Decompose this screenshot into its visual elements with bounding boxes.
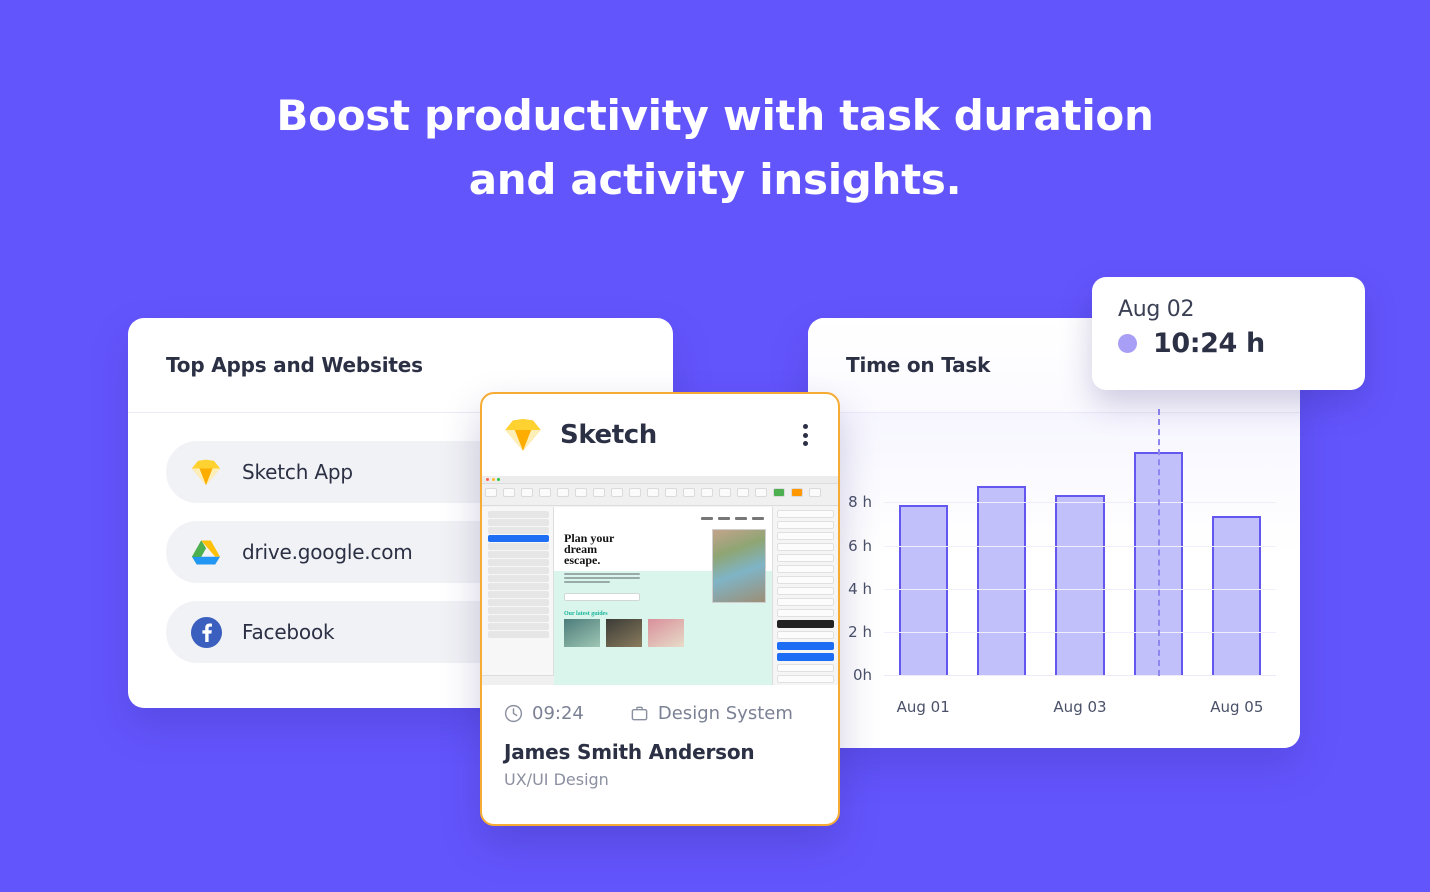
kebab-menu-icon[interactable]	[792, 420, 818, 450]
chart-bars	[884, 443, 1276, 676]
tooltip-series-dot	[1118, 334, 1137, 353]
chart-gridline: 0h	[884, 675, 1276, 676]
list-item-label: Facebook	[242, 620, 334, 644]
chart-y-tick-label: 4 h	[848, 580, 872, 598]
google-drive-icon	[188, 534, 224, 570]
chart-gridline: 4 h	[884, 589, 1276, 590]
sketch-icon	[188, 454, 224, 490]
sketch-screenshot-thumbnail[interactable]: Plan yourdreamescape. Our latest guides	[482, 476, 838, 685]
screenshot-canvas: Plan yourdreamescape. Our latest guides	[554, 507, 772, 685]
sketch-meta-row: 09:24 Design System	[504, 703, 816, 724]
sketch-icon	[504, 418, 542, 452]
tooltip-value-row: 10:24 h	[1118, 328, 1339, 359]
sketch-card-header: Sketch	[482, 394, 838, 476]
page-headline: Boost productivity with task duration an…	[0, 84, 1430, 212]
kebab-dot	[803, 441, 808, 446]
tooltip-value: 10:24 h	[1153, 328, 1265, 359]
project-label: Design System	[658, 703, 793, 724]
top-apps-title: Top Apps and Websites	[166, 353, 423, 377]
chart-bar[interactable]	[1055, 495, 1104, 676]
tooltip-date: Aug 02	[1118, 297, 1339, 322]
time-on-task-title: Time on Task	[846, 353, 990, 377]
clock-icon	[504, 704, 523, 723]
bar-chart: 0h2 h4 h6 h8 hAug 01Aug 03Aug 05	[808, 413, 1300, 748]
screenshot-titlebar	[482, 476, 838, 484]
duration-label: 09:24	[532, 703, 584, 724]
screenshot-inspector-panel	[772, 507, 838, 685]
screenshot-image: Plan yourdreamescape. Our latest guides	[482, 476, 838, 685]
briefcase-icon	[630, 704, 649, 723]
headline-line-1: Boost productivity with task duration	[276, 91, 1153, 140]
duration-item: 09:24	[504, 703, 584, 724]
chart-plot-area: 0h2 h4 h6 h8 hAug 01Aug 03Aug 05	[884, 443, 1276, 676]
chart-y-tick-label: 0h	[853, 666, 872, 684]
kebab-dot	[803, 433, 808, 438]
chart-y-tick-label: 6 h	[848, 537, 872, 555]
chart-x-tick-label: Aug 03	[1053, 698, 1106, 716]
chart-gridline: 8 h	[884, 502, 1276, 503]
headline-line-2: and activity insights.	[0, 148, 1430, 212]
chart-bar[interactable]	[977, 486, 1026, 676]
screenshot-body: Plan yourdreamescape. Our latest guides	[482, 507, 838, 685]
chart-bar[interactable]	[1212, 516, 1261, 676]
facebook-icon	[188, 614, 224, 650]
sketch-app-name: Sketch	[560, 420, 792, 450]
sketch-activity-card: Sketch	[480, 392, 840, 826]
project-item: Design System	[630, 703, 793, 724]
list-item-label: drive.google.com	[242, 540, 413, 564]
chart-x-tick-label: Aug 05	[1210, 698, 1263, 716]
chart-y-tick-label: 8 h	[848, 493, 872, 511]
screenshot-layers-panel	[482, 507, 554, 685]
person-role: UX/UI Design	[504, 770, 816, 789]
chart-tooltip: Aug 02 10:24 h	[1092, 277, 1365, 390]
list-item-label: Sketch App	[242, 460, 353, 484]
chart-gridline: 6 h	[884, 546, 1276, 547]
chart-gridline: 2 h	[884, 632, 1276, 633]
kebab-dot	[803, 424, 808, 429]
chart-bar[interactable]	[899, 505, 948, 677]
person-name: James Smith Anderson	[504, 740, 816, 764]
chart-x-tick-label: Aug 01	[897, 698, 950, 716]
chart-cursor-line	[1158, 409, 1160, 676]
sketch-card-footer: 09:24 Design System James Smith Anderson…	[482, 685, 838, 789]
screenshot-toolbar	[482, 484, 838, 506]
chart-y-tick-label: 2 h	[848, 623, 872, 641]
